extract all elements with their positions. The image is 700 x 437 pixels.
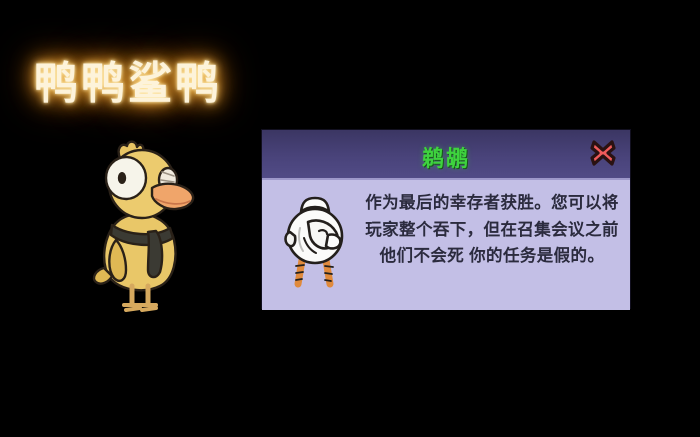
pelican-avatar-icon: [284, 188, 346, 292]
role-description: 作为最后的幸存者获胜。您可以将玩家整个吞下，但在召集会议之前他们不会死 你的任务…: [364, 190, 620, 270]
role-name-title: 鹈鹕: [262, 141, 630, 173]
panel-header: 鹈鹕: [262, 130, 630, 180]
close-icon[interactable]: [588, 138, 618, 168]
game-screen: 鸭鸭鲨鸭: [0, 0, 700, 437]
game-title: 鸭鸭鲨鸭: [34, 62, 222, 106]
duck-mascot-icon: [82, 128, 212, 318]
panel-body: 作为最后的幸存者获胜。您可以将玩家整个吞下，但在召集会议之前他们不会死 你的任务…: [262, 180, 630, 310]
role-info-panel: 鹈鹕: [262, 130, 630, 308]
